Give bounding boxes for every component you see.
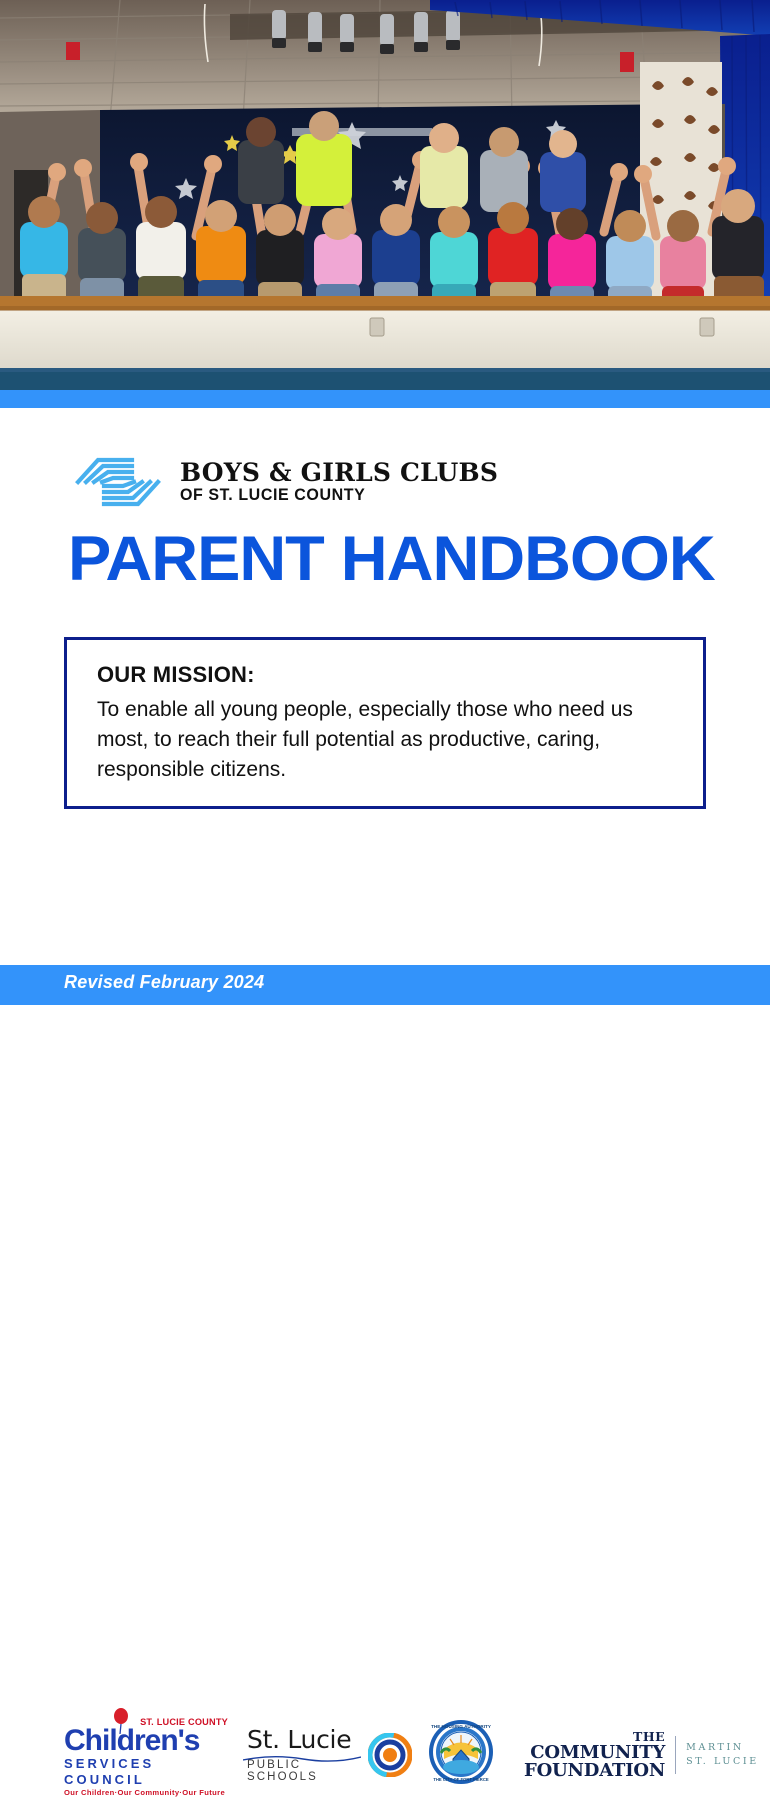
mission-text: To enable all young people, especially t… bbox=[97, 695, 675, 784]
cf-region-martin: MARTIN bbox=[686, 1741, 759, 1755]
page-title: PARENT HANDBOOK bbox=[68, 528, 727, 591]
cf-the: THE bbox=[524, 1731, 665, 1744]
concentric-rings-icon bbox=[368, 1733, 412, 1777]
seal-top-text: THE HOUSING AUTHORITY bbox=[431, 1724, 491, 1729]
cf-foundation: FOUNDATION bbox=[524, 1762, 665, 1780]
sponsor-housing-authority: THE HOUSING AUTHORITY THE CITY OF FORT P… bbox=[428, 1719, 494, 1785]
red-balloon-icon bbox=[111, 1708, 131, 1734]
cover-photo bbox=[0, 0, 770, 390]
mission-heading: OUR MISSION: bbox=[97, 662, 677, 688]
parent-handbook-cover: BOYS & GIRLS CLUBS OF ST. LUCIE COUNTY P… bbox=[0, 0, 770, 1024]
sponsor-logos: ST. LUCIE COUNTY Children's SERVICES COU… bbox=[0, 855, 770, 955]
cf-region-st-lucie: ST. LUCIE bbox=[686, 1755, 759, 1769]
sponsor-community-foundation: THE COMMUNITY FOUNDATION MARTIN ST. LUCI… bbox=[524, 1731, 759, 1780]
brand-name: BOYS & GIRLS CLUBS bbox=[180, 460, 498, 486]
photo-divider-band bbox=[0, 390, 770, 408]
wave-divider-icon bbox=[243, 1754, 361, 1764]
sponsor-st-lucie-public-schools: St. Lucie PUBLIC SCHOOLS bbox=[247, 1727, 412, 1783]
cf-community: COMMUNITY bbox=[524, 1744, 665, 1762]
organization-logo: BOYS & GIRLS CLUBS OF ST. LUCIE COUNTY bbox=[70, 452, 498, 512]
csc-services-council: SERVICES COUNCIL bbox=[64, 1756, 232, 1789]
boys-and-girls-clubs-hands-icon bbox=[70, 452, 166, 512]
housing-authority-seal-icon: THE HOUSING AUTHORITY THE CITY OF FORT P… bbox=[428, 1719, 494, 1785]
brand-locality: OF ST. LUCIE COUNTY bbox=[180, 486, 489, 504]
csc-wordmark: Children's bbox=[64, 1727, 232, 1756]
sponsor-childrens-services-council: ST. LUCIE COUNTY Children's SERVICES COU… bbox=[64, 1717, 232, 1798]
slps-name: St. Lucie bbox=[247, 1727, 359, 1752]
cf-divider bbox=[675, 1736, 676, 1774]
csc-tagline: Our Children·Our Community·Our Future bbox=[64, 1788, 232, 1798]
revision-date: Revised February 2024 bbox=[64, 972, 264, 993]
seal-bottom-text: THE CITY OF FORT PIERCE bbox=[433, 1777, 489, 1782]
mission-box: OUR MISSION: To enable all young people,… bbox=[64, 637, 706, 809]
